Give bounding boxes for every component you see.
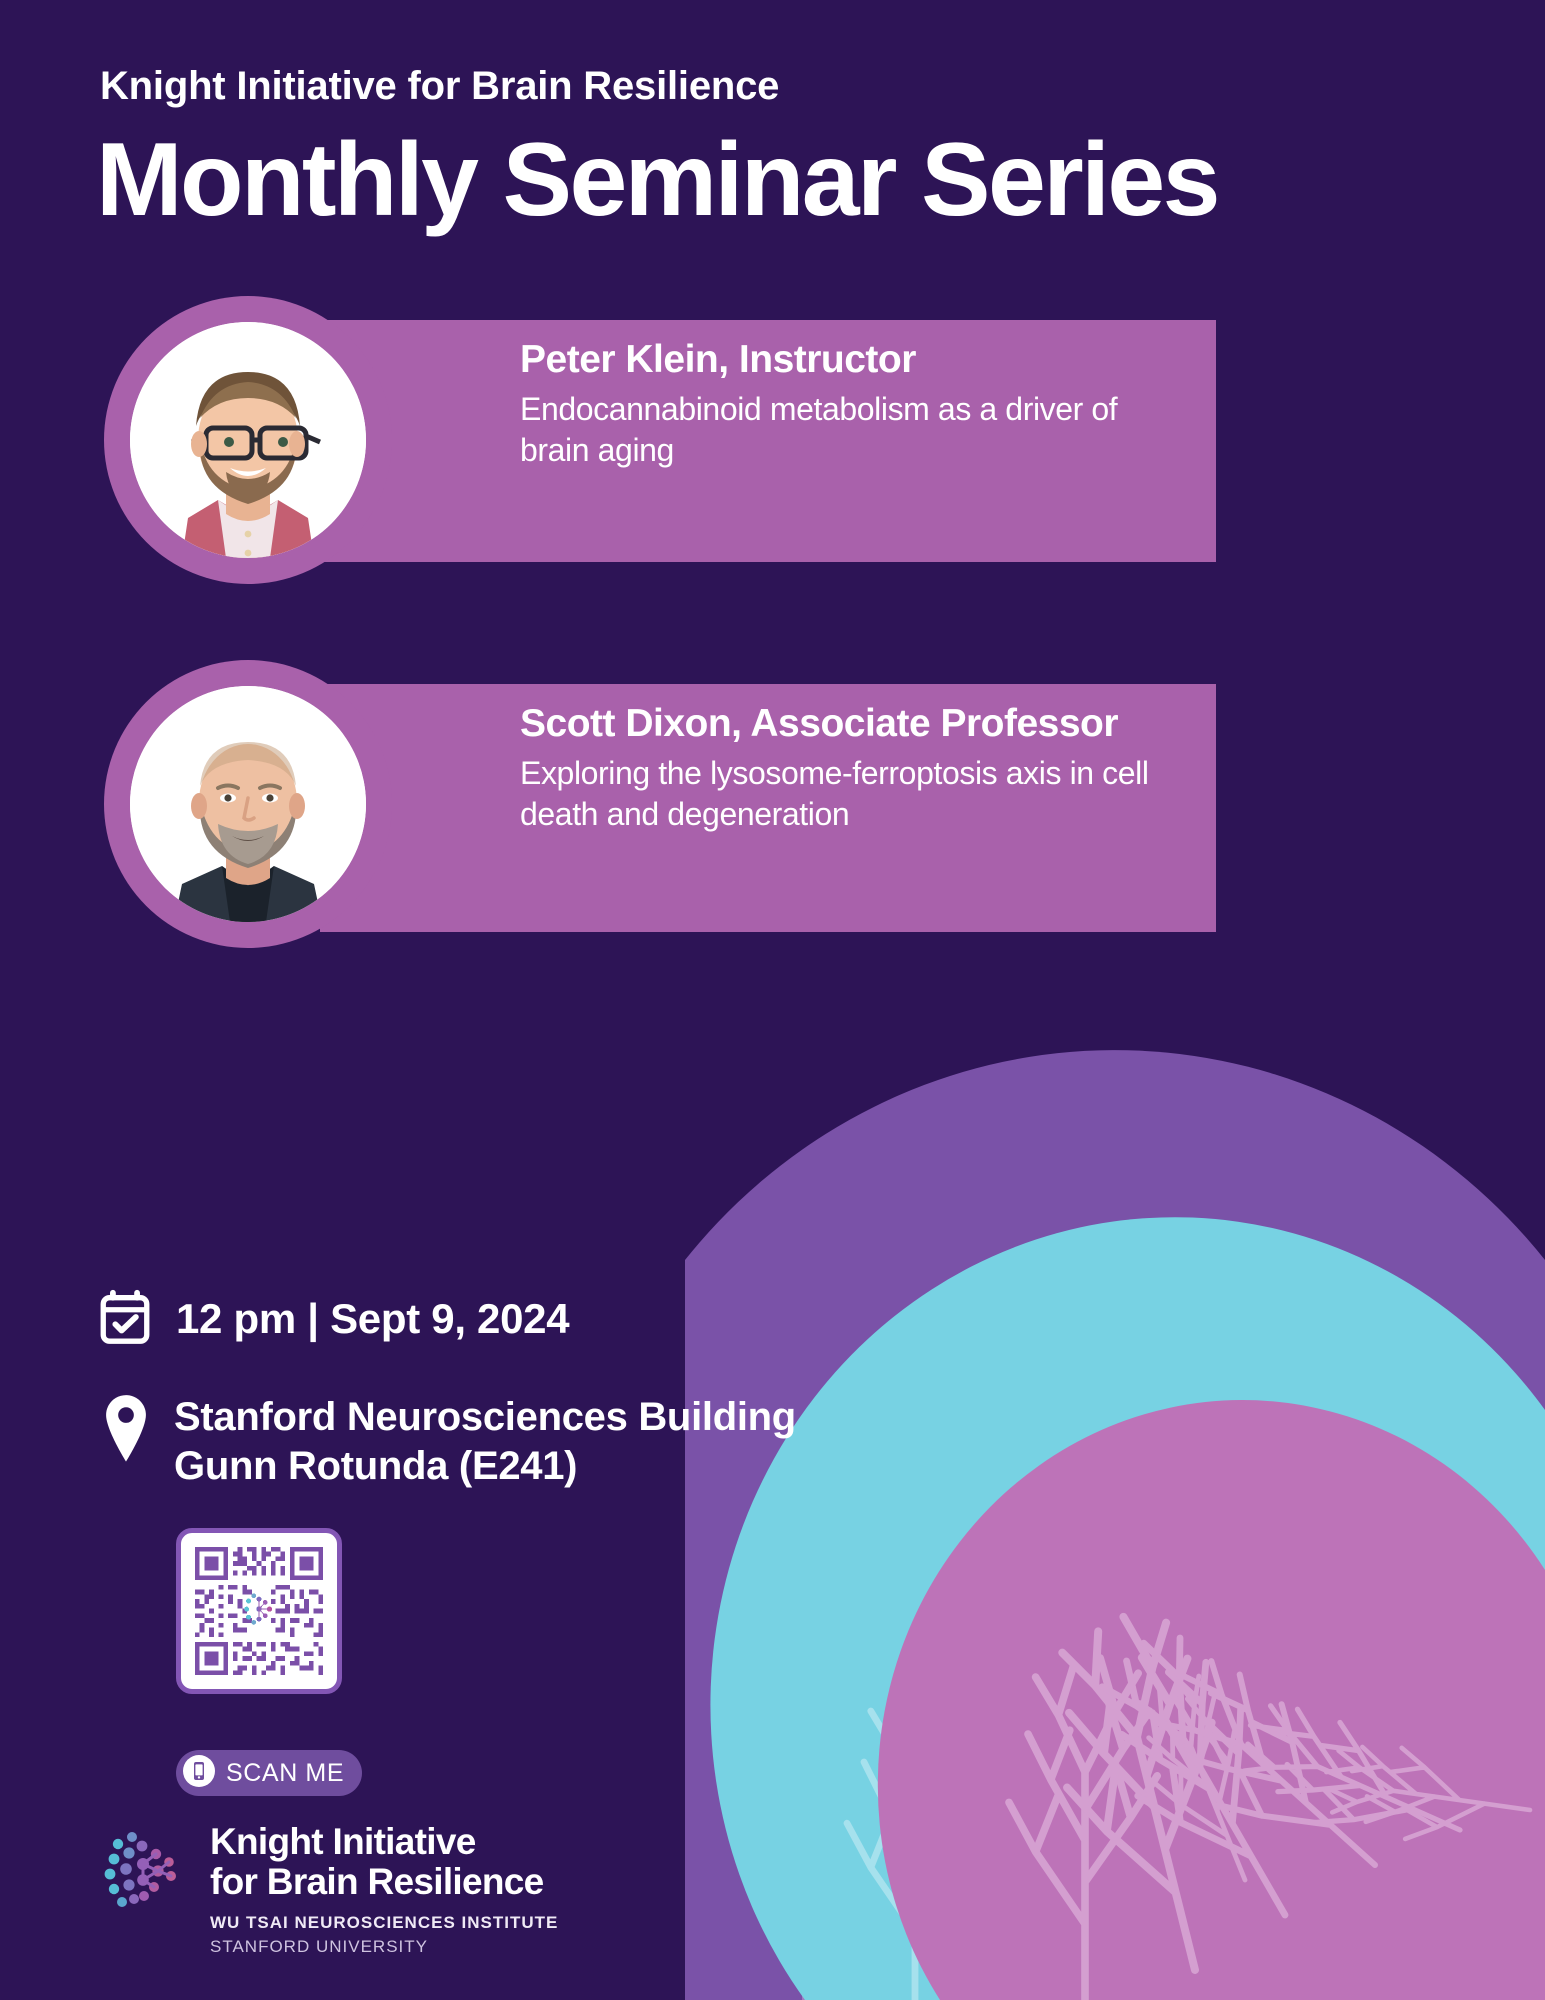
seminar-poster: Knight Initiative for Brain Resilience M… [0, 0, 1545, 2000]
event-datetime-text: 12 pm | Sept 9, 2024 [176, 1296, 569, 1342]
page-title: Monthly Seminar Series [96, 128, 1218, 232]
speaker-1-name: Peter Klein, Instructor [520, 338, 1186, 383]
event-datetime: 12 pm | Sept 9, 2024 [96, 1288, 569, 1351]
event-location: Stanford Neurosciences Building Gunn Rot… [100, 1393, 796, 1491]
map-pin-icon [100, 1393, 152, 1470]
knight-initiative-dot-cluster-logo [96, 1824, 192, 1925]
event-location-line2: Gunn Rotunda (E241) [174, 1444, 577, 1488]
speaker-1-talk-title: Endocannabinoid metabolism as a driver o… [520, 389, 1186, 471]
brand-footer: Knight Initiative for Brain Resilience W… [96, 1820, 558, 1957]
organization-kicker: Knight Initiative for Brain Resilience [100, 64, 779, 109]
mobile-phone-icon [183, 1755, 215, 1792]
calendar-check-icon [96, 1288, 154, 1351]
dendritic-tree-arcs-decoration [685, 1010, 1545, 2000]
speaker-1-panel: Peter Klein, Instructor Endocannabinoid … [320, 320, 1216, 562]
event-location-line1: Stanford Neurosciences Building [174, 1395, 796, 1439]
speaker-2-talk-title: Exploring the lysosome-ferroptosis axis … [520, 753, 1186, 835]
brand-university: STANFORD UNIVERSITY [210, 1937, 558, 1957]
scan-me-label: SCAN ME [226, 1759, 344, 1788]
speaker-2-panel: Scott Dixon, Associate Professor Explori… [320, 684, 1216, 932]
brand-name-line2: for Brain Resilience [210, 1862, 558, 1902]
event-location-text: Stanford Neurosciences Building Gunn Rot… [174, 1393, 796, 1491]
brand-institute: WU TSAI NEUROSCIENCES INSTITUTE [210, 1913, 558, 1933]
brand-name-line1: Knight Initiative [210, 1822, 558, 1862]
speaker-2-name: Scott Dixon, Associate Professor [520, 702, 1186, 747]
qr-code[interactable] [176, 1528, 342, 1694]
scan-me-badge[interactable]: SCAN ME [176, 1750, 362, 1796]
